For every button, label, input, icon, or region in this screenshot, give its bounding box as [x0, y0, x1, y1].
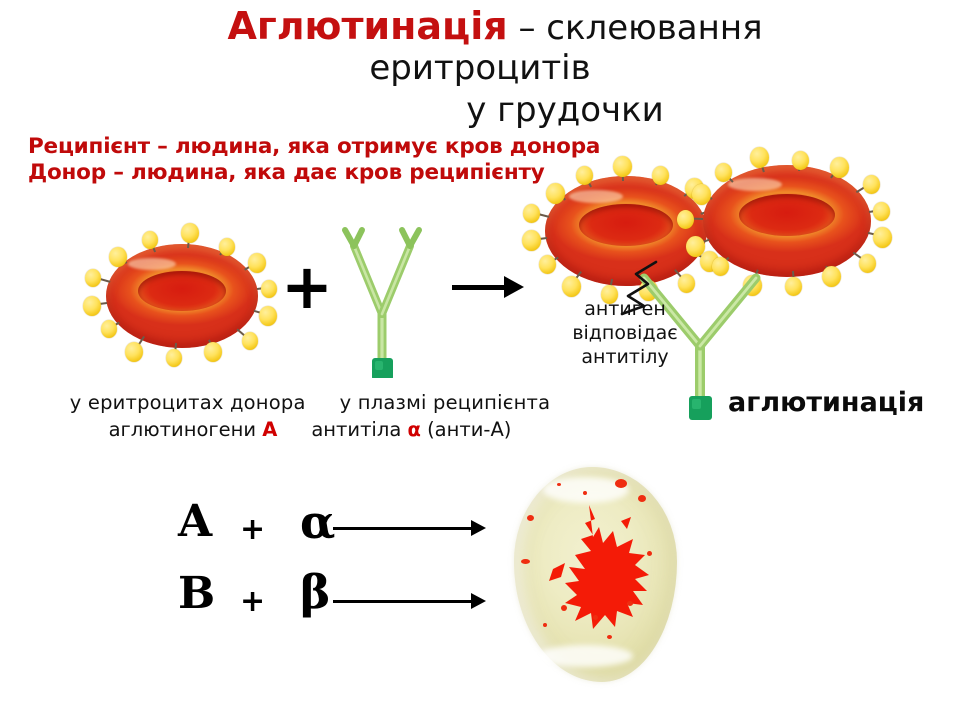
antigen-label-line-3: антитілу [545, 345, 705, 369]
equation-2-antibody: β [300, 570, 331, 614]
antigen-molecule [863, 175, 880, 194]
antigen-molecule [792, 151, 809, 170]
caption-agglutinogens: аглютиногени [109, 418, 256, 441]
antigen-molecule [204, 342, 222, 362]
antigen-molecule [85, 269, 101, 287]
antigen-molecule [873, 202, 890, 221]
antigen-molecule [523, 204, 540, 223]
arrow-head [471, 520, 486, 536]
arrow-shaft [452, 285, 506, 290]
arrow-head [504, 276, 524, 298]
antigen-molecule [859, 254, 876, 273]
antigen-molecule [242, 332, 258, 350]
antigen-matches-antibody-label: антиген відповідає антитілу [545, 297, 705, 369]
clot-speck [615, 479, 627, 488]
antigen-molecule [562, 276, 581, 297]
caption-recipient-plasma: у плазмі реципієнта [340, 391, 551, 414]
caption-antibodies: антитіла [311, 418, 401, 441]
erythrocyte-highlight [569, 190, 623, 203]
title-keyword-rest: – склеювання [508, 8, 763, 48]
symbol-agglutinogen-a: А [262, 418, 277, 441]
antigen-molecule [219, 238, 235, 256]
equation-2-plus: + [240, 584, 265, 619]
antigen-molecule [686, 236, 705, 257]
caption-line-2: аглютиногени Аантитіла α (анти-А) [40, 416, 580, 443]
antibody-free [334, 218, 430, 378]
antigen-molecule [261, 280, 277, 298]
antigen-molecule [83, 296, 101, 316]
caption-donor-erythrocytes: у еритроцитах донора [70, 391, 306, 414]
antigen-molecule [576, 166, 593, 185]
antigen-label-line-1: антиген [545, 297, 705, 321]
erythrocyte-highlight [728, 178, 782, 191]
equation-1-plus: + [240, 512, 265, 547]
title-line-1: Аглютинація – склеювання [0, 4, 960, 50]
antigen-molecule [539, 255, 556, 274]
slide-title: Аглютинація – склеювання еритроцитів у г… [0, 4, 960, 128]
plus-sign-reaction: + [281, 256, 333, 318]
antigen-molecule [166, 349, 182, 367]
agglutination-photo [497, 455, 695, 698]
antigen-molecule [873, 227, 892, 248]
antigen-molecule [822, 266, 841, 287]
antigen-molecule [750, 147, 769, 168]
clot-speck [647, 551, 652, 556]
title-keyword: Аглютинація [227, 4, 507, 48]
antigen-molecule [785, 277, 802, 296]
caption-line-1: у еритроцитах донорау плазмі реципієнта [40, 389, 580, 416]
erythrocyte-highlight [128, 258, 176, 270]
clot-speck [543, 623, 547, 627]
arrow-shaft [333, 600, 473, 603]
antigen-molecule [125, 342, 143, 362]
erythrocyte-donor [96, 228, 268, 364]
clot-shape [535, 499, 663, 649]
clot-speck [607, 635, 612, 639]
symbol-antibody-alpha: α [407, 418, 420, 441]
clot-speck [627, 601, 633, 606]
reaction-caption: у еритроцитах донорау плазмі реципієнта … [40, 389, 580, 443]
antigen-molecule [101, 320, 117, 338]
erythrocyte-dimple [579, 204, 673, 246]
antigen-label-line-2: відповідає [545, 321, 705, 345]
clot-speck [638, 495, 646, 502]
clot-speck [521, 559, 530, 564]
clot-speck [593, 615, 598, 620]
antigen-molecule [692, 184, 711, 205]
antigen-molecule [259, 306, 277, 326]
title-line-3: у грудочки [0, 88, 960, 128]
clot-speck [583, 491, 587, 495]
clot-speck [561, 605, 567, 611]
arrow-shaft [333, 527, 473, 530]
caption-anti-a: (анти-А) [427, 418, 511, 441]
antigen-molecule [248, 253, 266, 273]
erythrocyte-dimple [739, 194, 835, 236]
clot-speck [527, 515, 534, 521]
equation-2-antigen: B [178, 572, 215, 616]
equation-1-antigen: A [178, 500, 212, 544]
antigen-molecule [613, 156, 632, 177]
antigen-molecule [522, 230, 541, 251]
clot-speck [557, 483, 561, 486]
slide-canvas: Аглютинація – склеювання еритроцитів у г… [0, 0, 960, 720]
antigen-molecule [181, 223, 199, 243]
antigen-molecule [546, 183, 565, 204]
equation-1-antibody: α [300, 500, 335, 544]
title-line-2: еритроцитів [0, 46, 960, 90]
arrow-head [471, 593, 486, 609]
antigen-molecule [677, 210, 694, 229]
erythrocyte-dimple [138, 271, 226, 311]
definition-recipient: Реципієнт – людина, яка отримує кров дон… [28, 134, 688, 160]
result-label-agglutination: аглютинація [728, 387, 924, 418]
antigen-molecule [830, 157, 849, 178]
antigen-molecule [142, 231, 158, 249]
